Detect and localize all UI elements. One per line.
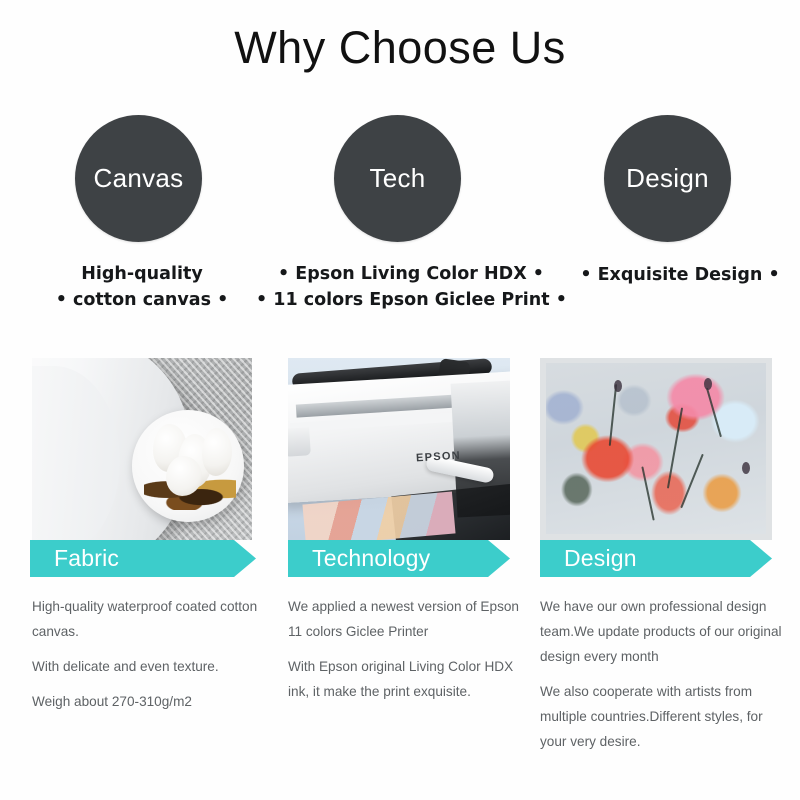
description-paragraph: With Epson original Living Color HDX ink… — [288, 654, 520, 704]
description-design: We have our own professional design team… — [540, 594, 785, 764]
description-paragraph: With delicate and even texture. — [32, 654, 267, 679]
banner-fabric-label: Fabric — [30, 545, 119, 572]
flower-bud-shape — [704, 378, 712, 390]
description-fabric: High-quality waterproof coated cotton ca… — [32, 594, 267, 724]
feature-circle-canvas: Canvas — [75, 115, 202, 242]
description-paragraph: We have our own professional design team… — [540, 594, 785, 669]
description-paragraph: High-quality waterproof coated cotton ca… — [32, 594, 267, 644]
feature-blurb-canvas-line1: High-quality — [32, 261, 252, 287]
feature-circle-tech-label: Tech — [369, 163, 425, 194]
feature-blurb-canvas-line2: • cotton canvas • — [32, 287, 252, 313]
page-title: Why Choose Us — [0, 22, 800, 74]
description-paragraph: We applied a newest version of Epson 11 … — [288, 594, 520, 644]
printer-foot — [288, 427, 311, 457]
why-choose-us-infographic: Why Choose Us Canvas Tech Design High-qu… — [0, 0, 800, 800]
feature-blurb-canvas: High-quality • cotton canvas • — [32, 261, 252, 313]
flower-bud-shape — [742, 462, 750, 474]
feature-blurbs-row: High-quality • cotton canvas • • Epson L… — [0, 261, 800, 323]
description-technology: We applied a newest version of Epson 11 … — [288, 594, 520, 714]
epson-printer-photo: EPSON — [288, 358, 510, 540]
watercolor-artwork — [546, 363, 766, 534]
flower-bud-shape — [614, 380, 622, 392]
feature-blurb-tech-line2: • 11 colors Epson Giclee Print • — [256, 287, 566, 313]
flower-stem-shape — [666, 408, 682, 489]
feature-circle-canvas-label: Canvas — [94, 163, 184, 194]
banner-design-label: Design — [540, 545, 637, 572]
description-paragraph: Weigh about 270-310g/m2 — [32, 689, 267, 714]
feature-blurb-design-line1: • Exquisite Design • — [560, 262, 800, 288]
flower-stem-shape — [706, 388, 722, 438]
feature-circles-row: Canvas Tech Design — [0, 114, 800, 246]
banner-technology: Technology — [288, 540, 510, 577]
banner-design: Design — [540, 540, 772, 577]
section-banners-row: Fabric Technology Design — [0, 540, 800, 580]
canvas-roll-photo — [32, 358, 252, 540]
description-paragraph: We also cooperate with artists from mult… — [540, 679, 785, 754]
flower-stem-shape — [680, 454, 704, 509]
feature-blurb-tech-line1: • Epson Living Color HDX • — [256, 261, 566, 287]
feature-blurb-design: • Exquisite Design • — [560, 262, 800, 288]
feature-circle-design-label: Design — [626, 163, 709, 194]
banner-technology-label: Technology — [288, 545, 430, 572]
flower-stem-shape — [642, 466, 655, 520]
floral-painting-photo — [540, 358, 772, 540]
banner-fabric: Fabric — [30, 540, 256, 577]
feature-photos-row: EPSON — [0, 358, 800, 540]
feature-circle-tech: Tech — [334, 115, 461, 242]
section-descriptions-row: High-quality waterproof coated cotton ca… — [0, 594, 800, 794]
feature-blurb-tech: • Epson Living Color HDX • • 11 colors E… — [256, 261, 566, 313]
flower-stem-shape — [609, 384, 617, 445]
feature-circle-design: Design — [604, 115, 731, 242]
